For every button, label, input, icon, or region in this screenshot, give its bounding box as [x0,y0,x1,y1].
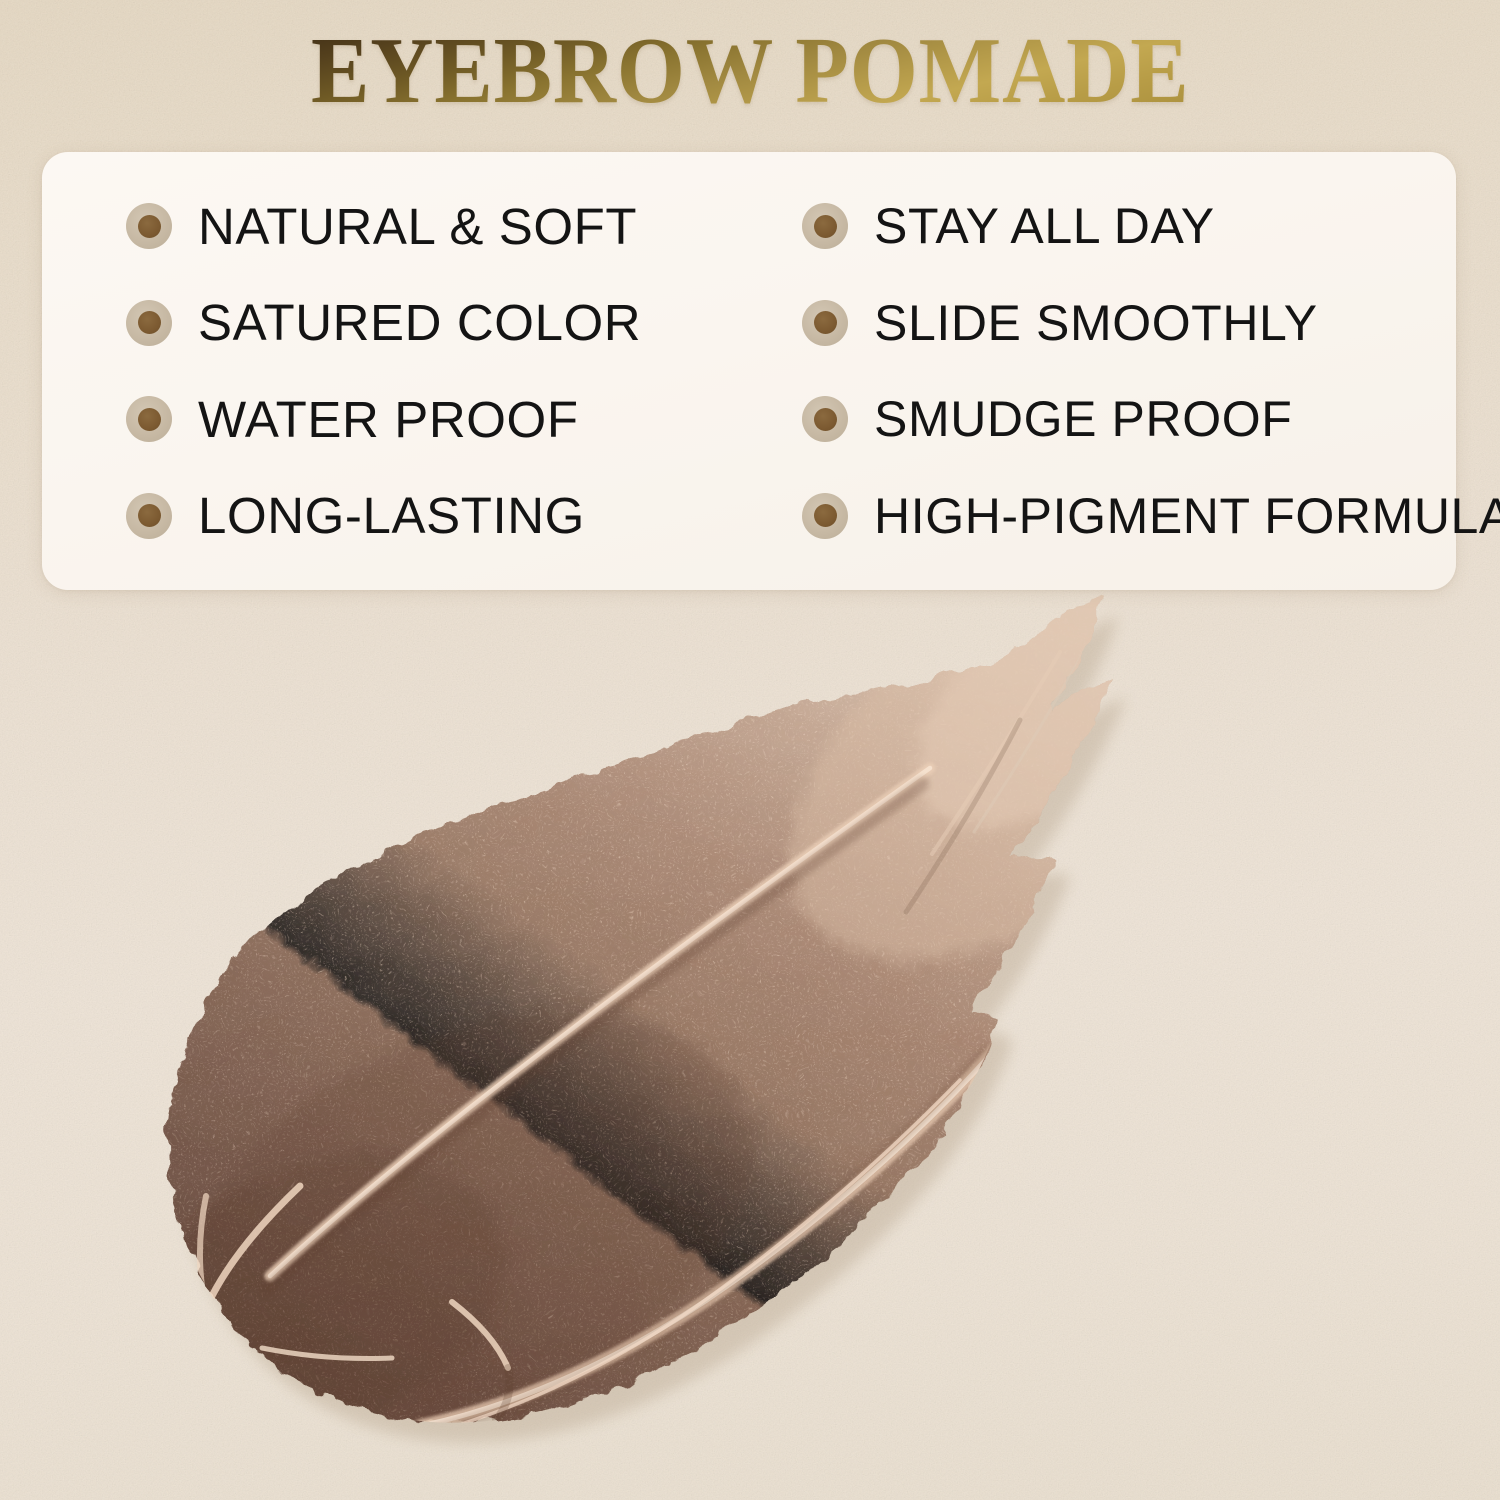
feature-item-high-pigment-formula: HIGH-PIGMENT FORMULA [786,468,1500,565]
product-image-canvas: EYEBROW POMADE NATURAL & SOFT STAY ALL D… [0,0,1500,1500]
feature-item-slide-smoothly: SLIDE SMOOTHLY [786,275,1500,372]
filled-circle-bullet-icon [126,396,172,442]
filled-circle-bullet-icon [802,396,848,442]
swatch-body [0,560,1500,1500]
page-title: EYEBROW POMADE [311,24,1189,118]
filled-circle-bullet-icon [802,203,848,249]
feature-item-smudge-proof: SMUDGE PROOF [786,371,1500,468]
title-container: EYEBROW POMADE [0,24,1500,118]
filled-circle-bullet-icon [126,493,172,539]
feature-item-natural-and-soft: NATURAL & SOFT [126,178,786,275]
feature-list-card: NATURAL & SOFT STAY ALL DAY SATURED COLO… [42,152,1456,590]
feature-item-stay-all-day: STAY ALL DAY [786,178,1500,275]
feature-label: WATER PROOF [198,394,579,445]
feature-label: HIGH-PIGMENT FORMULA [874,491,1500,541]
feature-label: SATURED COLOR [198,297,641,348]
feature-label: STAY ALL DAY [874,201,1215,251]
feature-item-satured-color: SATURED COLOR [126,275,786,372]
feature-grid: NATURAL & SOFT STAY ALL DAY SATURED COLO… [42,152,1456,590]
product-swatch-container [0,560,1500,1500]
feature-label: NATURAL & SOFT [198,201,637,252]
filled-circle-bullet-icon [126,203,172,249]
feature-item-long-lasting: LONG-LASTING [126,468,786,565]
filled-circle-bullet-icon [126,300,172,346]
filled-circle-bullet-icon [802,300,848,346]
feature-label: LONG-LASTING [198,490,585,541]
pomade-swatch [0,560,1500,1500]
feature-label: SMUDGE PROOF [874,394,1292,444]
feature-label: SLIDE SMOOTHLY [874,298,1318,348]
filled-circle-bullet-icon [802,493,848,539]
feature-item-water-proof: WATER PROOF [126,371,786,468]
